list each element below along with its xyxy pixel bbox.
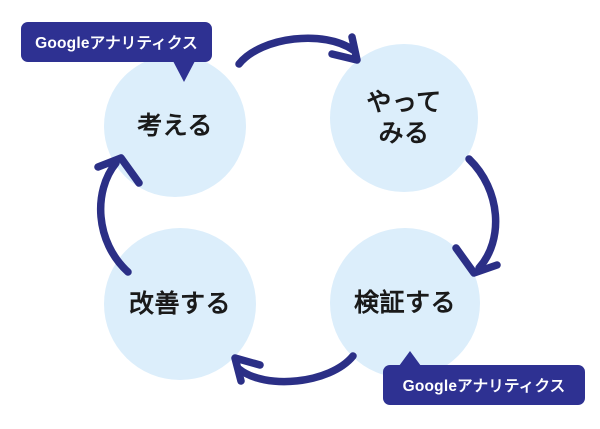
arrow-do-to-verify <box>456 159 497 273</box>
callout-bottom[interactable]: Googleアナリティクス <box>383 365 585 405</box>
callout-bottom-tail-icon <box>399 351 421 366</box>
callout-top-tail-icon <box>173 61 195 82</box>
node-circle-do[interactable] <box>330 44 478 192</box>
callout-top[interactable]: Googleアナリティクス <box>21 22 212 62</box>
arrow-think-to-do <box>239 37 357 64</box>
diagram-canvas: 考える やって みる 検証する 改善する Googleアナリティクス Googl… <box>0 0 600 429</box>
arrow-verify-to-improve <box>235 356 353 382</box>
